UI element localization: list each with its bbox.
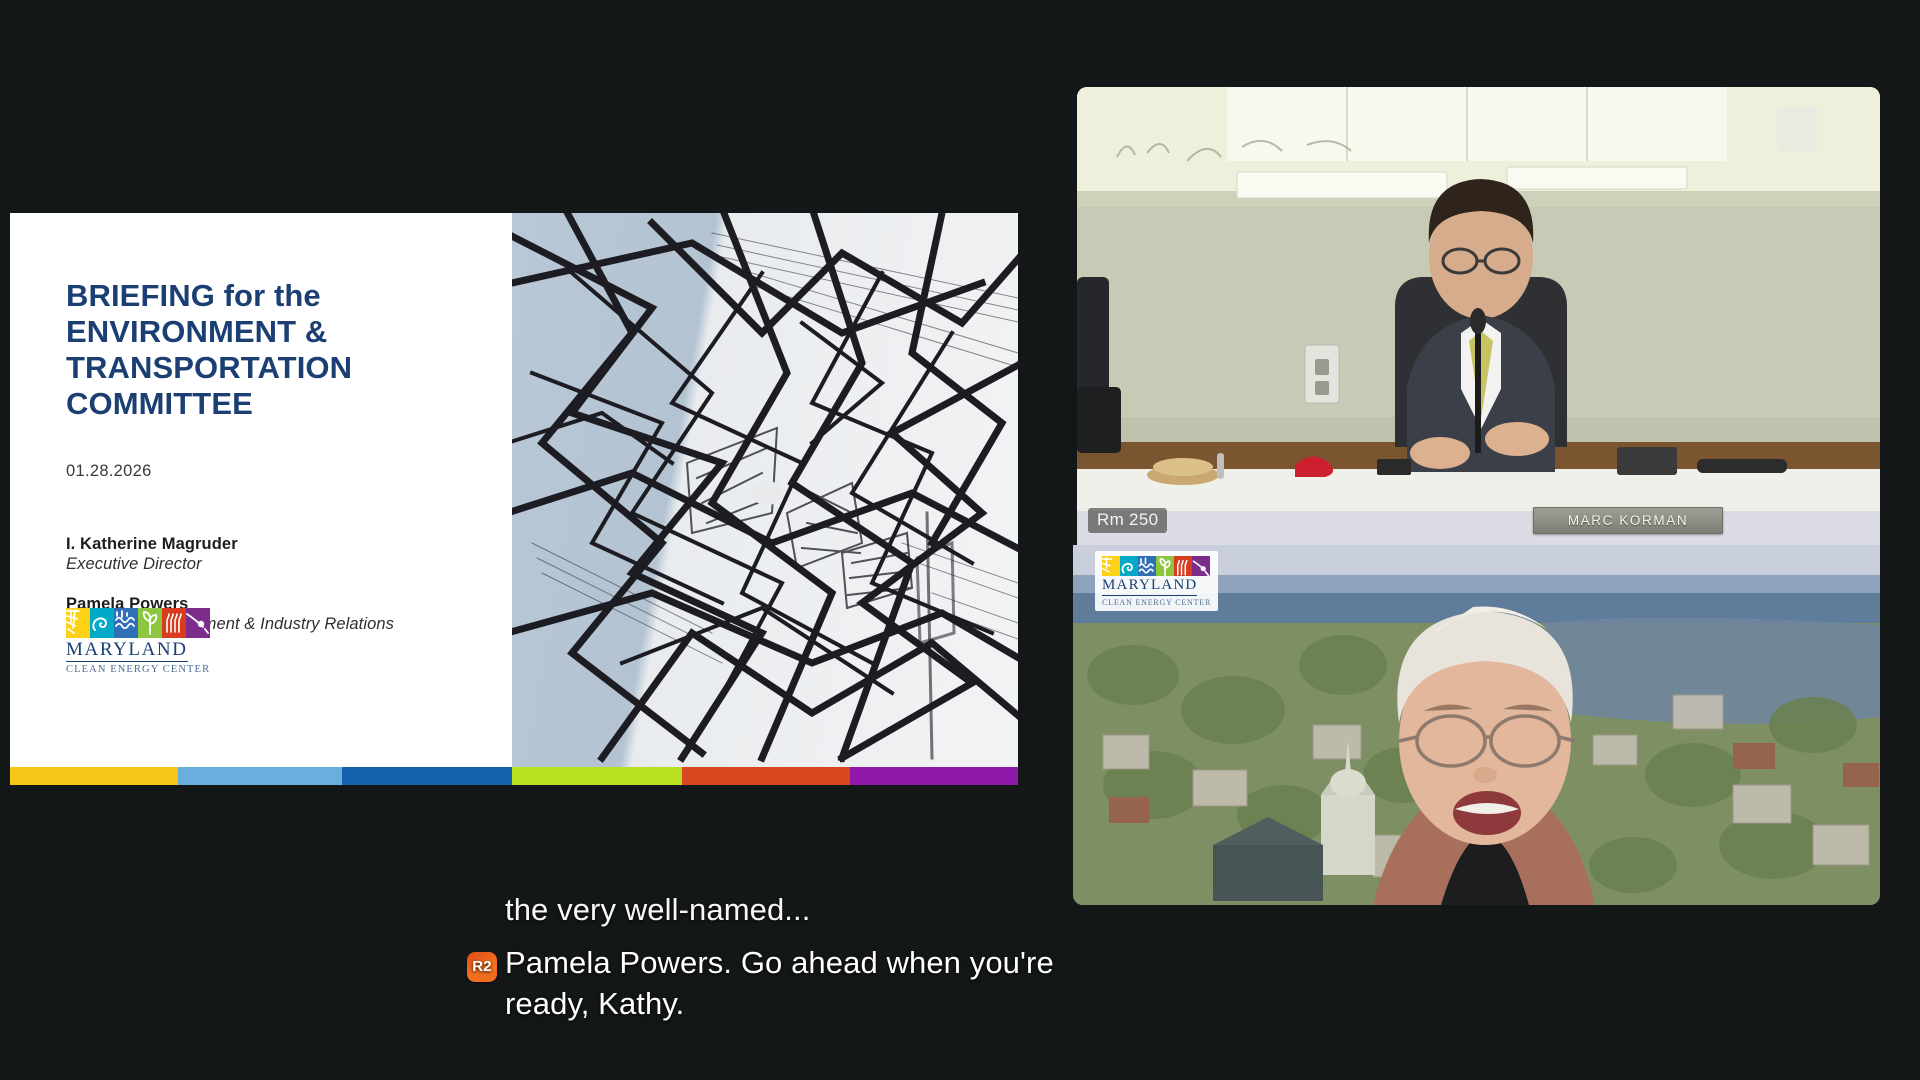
slide-date: 01.28.2026 — [66, 462, 512, 481]
electric-tile-icon — [186, 608, 210, 638]
closed-captions: the very well-named... R2 Pamela Powers.… — [505, 890, 1065, 1025]
shared-slide[interactable]: BRIEFING for the ENVIRONMENT & TRANSPORT… — [10, 213, 1018, 785]
electric-tile-icon — [1192, 556, 1210, 576]
mcec-logo-tiles — [66, 608, 210, 638]
color-bar-segment-blue — [342, 767, 512, 785]
speaker-badge: R2 — [467, 952, 497, 982]
mcec-logo-overlay: MARYLAND CLEAN ENERGY CENTER — [1095, 551, 1218, 611]
caption-previous-line: the very well-named... — [505, 890, 1065, 931]
nameplate: MARC KORMAN — [1533, 507, 1723, 534]
color-bar-segment-orange — [682, 767, 850, 785]
slide-body: BRIEFING for the ENVIRONMENT & TRANSPORT… — [10, 213, 1018, 767]
slide-title-line-3: TRANSPORTATION — [66, 350, 396, 386]
caption-current-text: Pamela Powers. Go ahead when you're read… — [505, 945, 1054, 1021]
wind-tile-icon — [1120, 556, 1138, 576]
color-bar-segment-yellow — [10, 767, 178, 785]
slide-title: BRIEFING for the ENVIRONMENT & TRANSPORT… — [66, 278, 396, 422]
presenter-1: I. Katherine Magruder Executive Director — [66, 535, 512, 574]
slide-color-bar — [10, 767, 1018, 785]
presenter-1-name: I. Katherine Magruder — [66, 535, 512, 554]
color-bar-segment-light-blue — [178, 767, 342, 785]
geothermal-tile-icon — [1174, 556, 1192, 576]
color-bar-segment-green — [512, 767, 682, 785]
slide-text-column: BRIEFING for the ENVIRONMENT & TRANSPORT… — [10, 213, 512, 767]
caption-current-line: R2 Pamela Powers. Go ahead when you're r… — [505, 943, 1065, 1025]
mcec-overlay-wordmark: MARYLAND — [1102, 578, 1197, 596]
presenter-1-role: Executive Director — [66, 555, 512, 574]
slide-title-line-4: COMMITTEE — [66, 386, 396, 422]
wind-tile-icon — [90, 608, 114, 638]
slide-title-line-2: ENVIRONMENT & — [66, 314, 396, 350]
slide-title-line-1: BRIEFING for the — [66, 278, 396, 314]
video-feed-hearing-room-image — [1077, 87, 1880, 545]
biomass-tile-icon — [138, 608, 162, 638]
solar-tile-icon — [1102, 556, 1120, 576]
mcec-wordmark: MARYLAND — [66, 640, 188, 662]
solar-tile-icon — [66, 608, 90, 638]
water-tile-icon — [1138, 556, 1156, 576]
video-feed-remote-participant[interactable]: MARYLAND CLEAN ENERGY CENTER — [1073, 545, 1880, 905]
biomass-tile-icon — [1156, 556, 1174, 576]
nameplate-text: MARC KORMAN — [1568, 513, 1688, 528]
room-label-badge: Rm 250 — [1088, 508, 1167, 533]
slide-photo-transmission-tower — [512, 213, 1018, 767]
geothermal-tile-icon — [162, 608, 186, 638]
mcec-logo-overlay-tiles — [1102, 556, 1211, 576]
mcec-logo: MARYLAND CLEAN ENERGY CENTER — [66, 608, 210, 675]
mcec-overlay-subtext: CLEAN ENERGY CENTER — [1102, 598, 1211, 607]
water-tile-icon — [114, 608, 138, 638]
color-bar-segment-purple — [850, 767, 1018, 785]
mcec-subtext: CLEAN ENERGY CENTER — [66, 664, 210, 675]
video-feed-hearing-room[interactable]: Rm 250 MARC KORMAN — [1077, 87, 1880, 545]
